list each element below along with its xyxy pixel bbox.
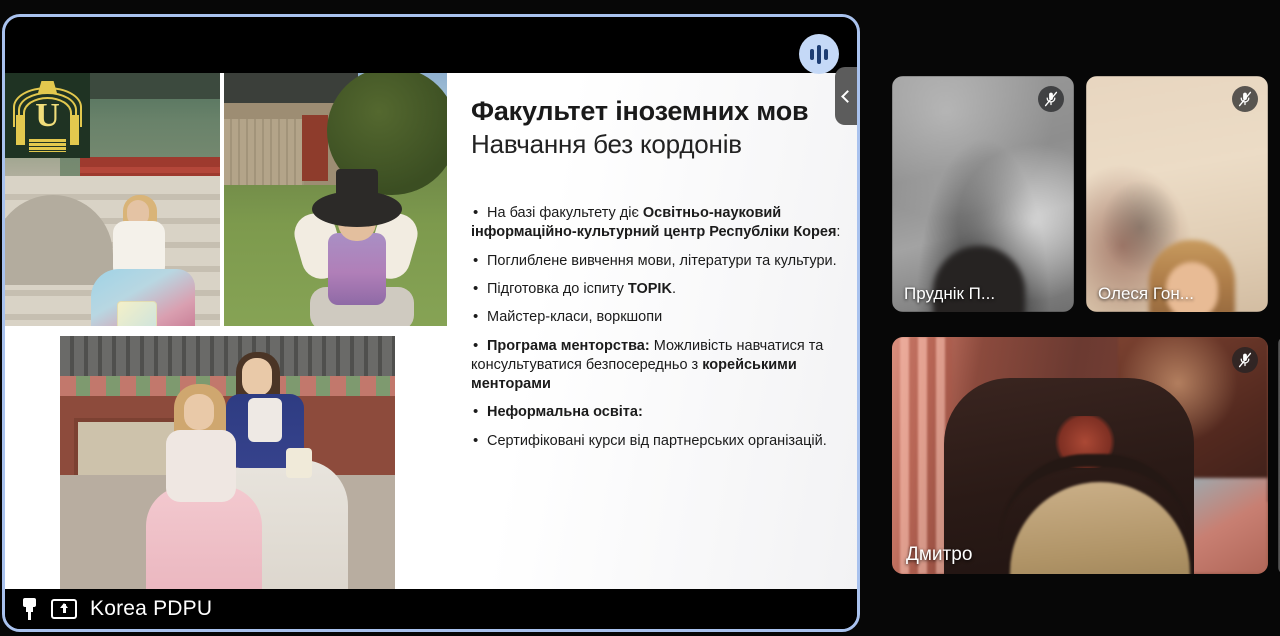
- slide-text-block: Факультет іноземних мов Навчання без кор…: [471, 95, 843, 460]
- participant-tile[interactable]: Дмитро: [892, 337, 1268, 574]
- mic-off-icon: [1232, 347, 1258, 373]
- pin-icon[interactable]: [21, 598, 38, 620]
- presentation-stage[interactable]: U Факультет іноземних мов Навчання без к…: [2, 14, 860, 632]
- shared-screen-content: U Факультет іноземних мов Навчання без к…: [5, 17, 857, 629]
- participant-rail: Пруднік П... Олеся Гон...: [886, 0, 1280, 636]
- slide-bullet: Неформальна освіта:: [471, 403, 843, 422]
- slide-bullet: Майстер-класи, воркшопи: [471, 308, 843, 327]
- slide-bullet: Програма менторства: Можливість навчатис…: [471, 337, 843, 395]
- presentation-footer: Korea PDPU: [5, 589, 857, 629]
- mic-off-icon: [1232, 86, 1258, 112]
- slide-photo-gat-hanbok: [224, 73, 447, 326]
- audio-waveform-icon: [799, 34, 839, 74]
- presenting-label: Korea PDPU: [90, 597, 212, 621]
- slide-bullet: Сертифіковані курси від партнерських орг…: [471, 432, 843, 451]
- mic-off-icon: [1038, 86, 1064, 112]
- participant-name: Олеся Гон...: [1098, 284, 1194, 304]
- university-logo: U: [5, 73, 90, 158]
- participant-video: [892, 337, 1268, 574]
- logo-letter: U: [5, 99, 90, 133]
- chevron-left-icon[interactable]: [835, 67, 857, 125]
- participant-tile[interactable]: Пруднік П...: [892, 76, 1074, 312]
- slide-bullet: Поглиблене вивчення мови, літератури та …: [471, 252, 843, 271]
- slide-title: Факультет іноземних мов: [471, 95, 843, 128]
- slide-bullet: На базі факультету діє Освітньо-науковий…: [471, 204, 843, 243]
- slide-bullet: Підготовка до іспиту TOPIK.: [471, 280, 843, 299]
- participant-name: Дмитро: [906, 544, 972, 566]
- present-screen-icon: [51, 599, 77, 619]
- slide-subtitle: Навчання без кордонів: [471, 129, 843, 160]
- slide-canvas: U Факультет іноземних мов Навчання без к…: [5, 73, 857, 595]
- participant-name: Пруднік П...: [904, 284, 995, 304]
- video-call-window: U Факультет іноземних мов Навчання без к…: [0, 0, 1280, 636]
- slide-photo-two-women-hanbok: [60, 336, 395, 595]
- participant-tile[interactable]: Олеся Гон...: [1086, 76, 1268, 312]
- slide-bullet-list: На базі факультету діє Освітньо-науковий…: [471, 204, 843, 451]
